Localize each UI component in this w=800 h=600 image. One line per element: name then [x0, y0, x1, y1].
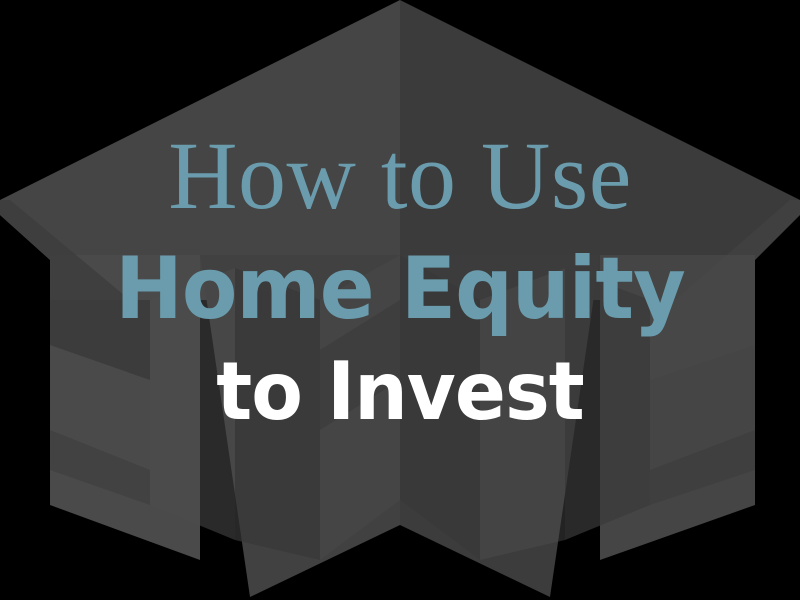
facet-left-inner — [235, 268, 320, 560]
facet-right-inner — [480, 268, 565, 560]
facet-left-column — [150, 268, 235, 540]
facet-right-column — [565, 268, 650, 540]
poster-canvas: How to Use Home Equity to Invest — [0, 0, 800, 600]
house-shield-icon — [0, 0, 800, 600]
